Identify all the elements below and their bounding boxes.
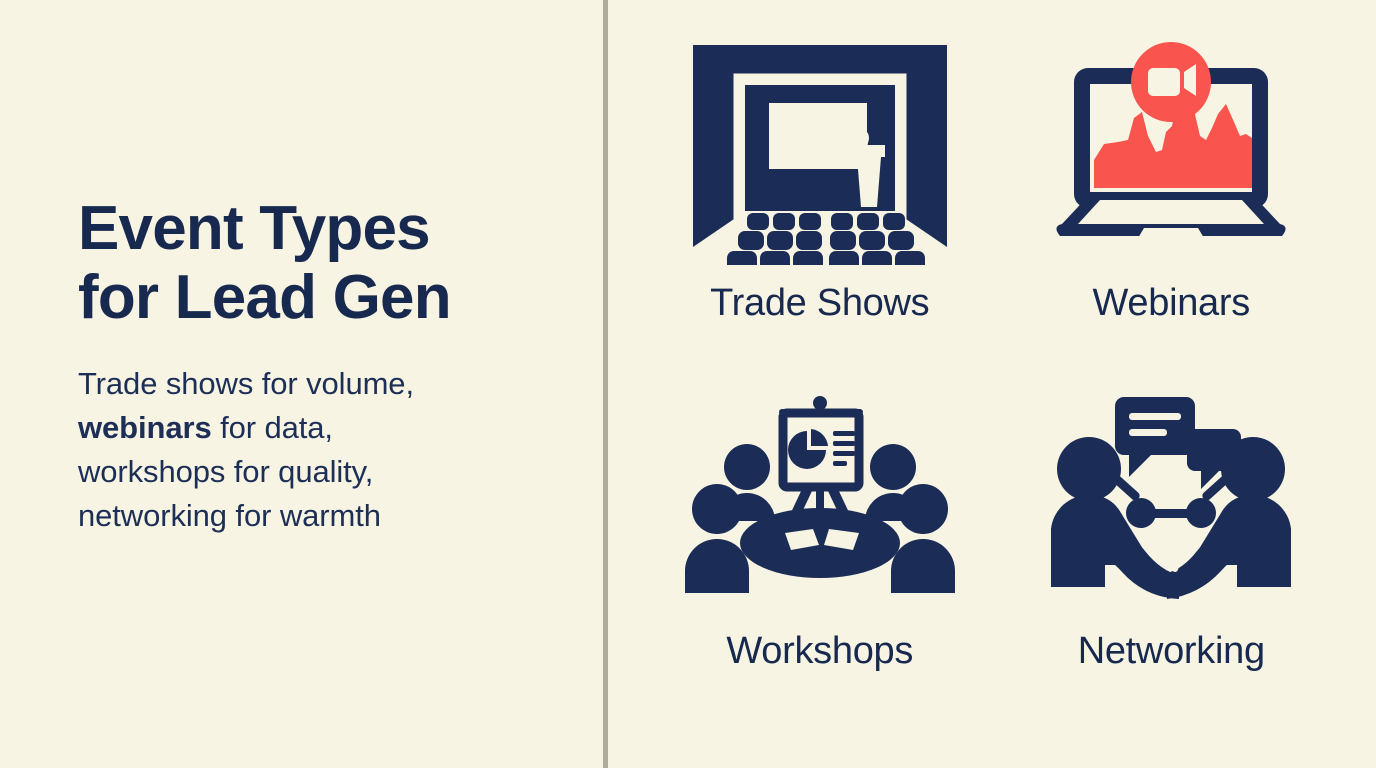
card-networking[interactable]: Networking — [1001, 388, 1343, 732]
icon-grid: Trade Shows — [605, 0, 1376, 768]
subcopy-emphasis-webinars: webinars — [78, 410, 212, 445]
subcopy-line-4-text: networking for warmth — [78, 498, 381, 533]
card-label-networking: Networking — [1078, 632, 1265, 670]
subcopy-line-1: Trade shows for volume, — [78, 362, 565, 406]
card-label-trade-shows: Trade Shows — [710, 284, 929, 322]
page-title-line-1: Event Types — [78, 194, 565, 263]
trade-shows-icon — [689, 38, 951, 268]
subcopy-line-2: webinars for data, — [78, 406, 565, 450]
subcopy-line-3: workshops for quality, — [78, 450, 565, 494]
subcopy: Trade shows for volume, webinars for dat… — [78, 362, 565, 538]
card-trade-shows[interactable]: Trade Shows — [649, 38, 991, 382]
subcopy-line-2-text: for data, — [212, 410, 333, 445]
subcopy-line-4: networking for warmth — [78, 494, 565, 538]
card-webinars[interactable]: Webinars — [1001, 38, 1343, 382]
slide-root: Event Types for Lead Gen Trade shows for… — [0, 0, 1376, 768]
card-label-webinars: Webinars — [1093, 284, 1250, 322]
subcopy-line-1-text: Trade shows for volume, — [78, 366, 414, 401]
page-title: Event Types for Lead Gen — [78, 194, 565, 333]
workshop-meeting-icon — [675, 388, 965, 616]
networking-handshake-icon — [1037, 388, 1305, 616]
card-workshops[interactable]: Workshops — [649, 388, 991, 732]
left-text-panel: Event Types for Lead Gen Trade shows for… — [0, 0, 605, 768]
subcopy-line-3-text: workshops for quality, — [78, 454, 373, 489]
card-label-workshops: Workshops — [726, 632, 913, 670]
page-title-line-2: for Lead Gen — [78, 263, 565, 332]
webinar-laptop-icon — [1038, 38, 1304, 268]
